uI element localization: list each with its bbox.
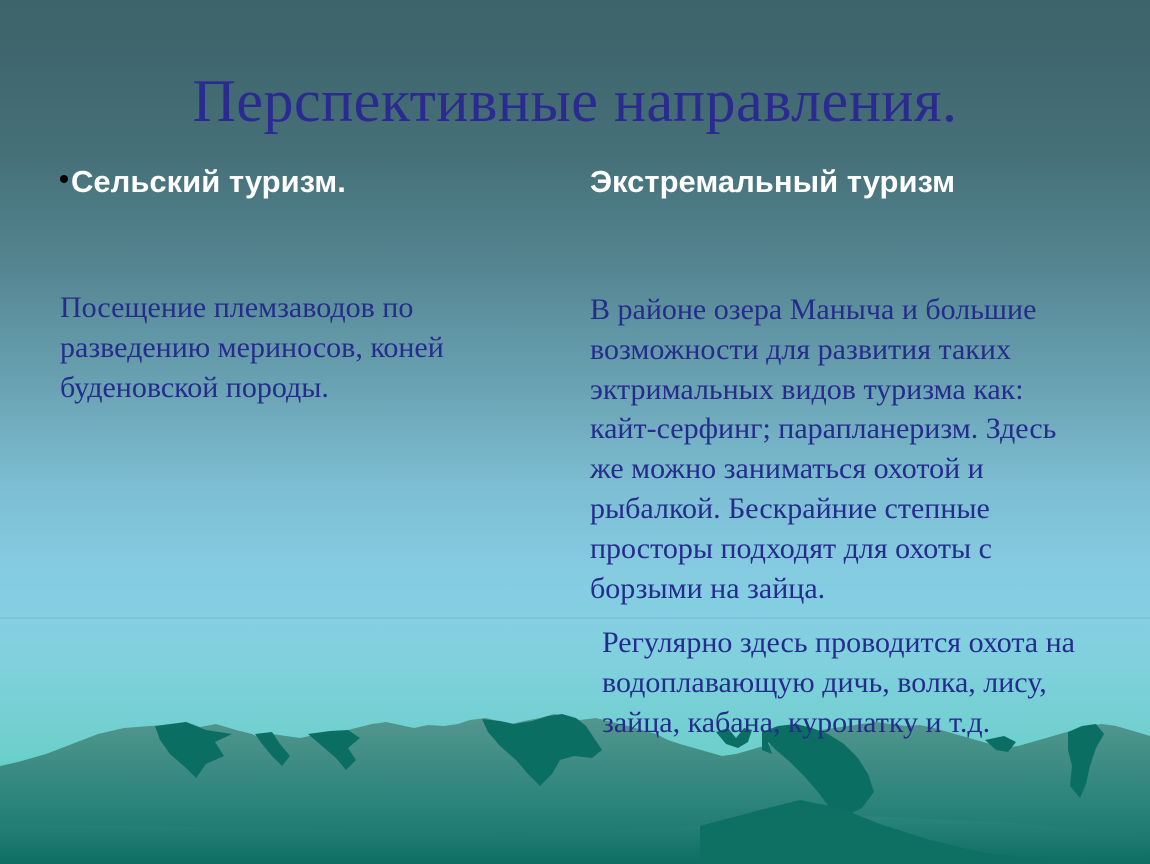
left-column-heading: Сельский туризм. [60,165,530,200]
right-column-heading: Экстремальный туризм [590,165,1090,200]
column-right: Экстремальный туризм В районе озера Маны… [590,165,1090,743]
right-column-body: В районе озера Маныча и большие возможно… [590,290,1090,743]
column-left: Сельский туризм. Посещение племзаводов п… [60,165,530,407]
right-paragraph-2: Регулярно здесь проводится охота на водо… [590,623,1090,743]
bullet-icon [60,175,68,183]
right-paragraph-1: В районе озера Маныча и большие возможно… [590,290,1090,609]
page-title: Перспективные направления. [0,68,1150,134]
left-paragraph-1: Посещение племзаводов по разведению мери… [60,288,530,408]
left-column-heading-label: Сельский туризм. [71,164,346,199]
left-column-body: Посещение племзаводов по разведению мери… [60,288,530,408]
slide: Перспективные направления. Сельский тури… [0,0,1150,864]
